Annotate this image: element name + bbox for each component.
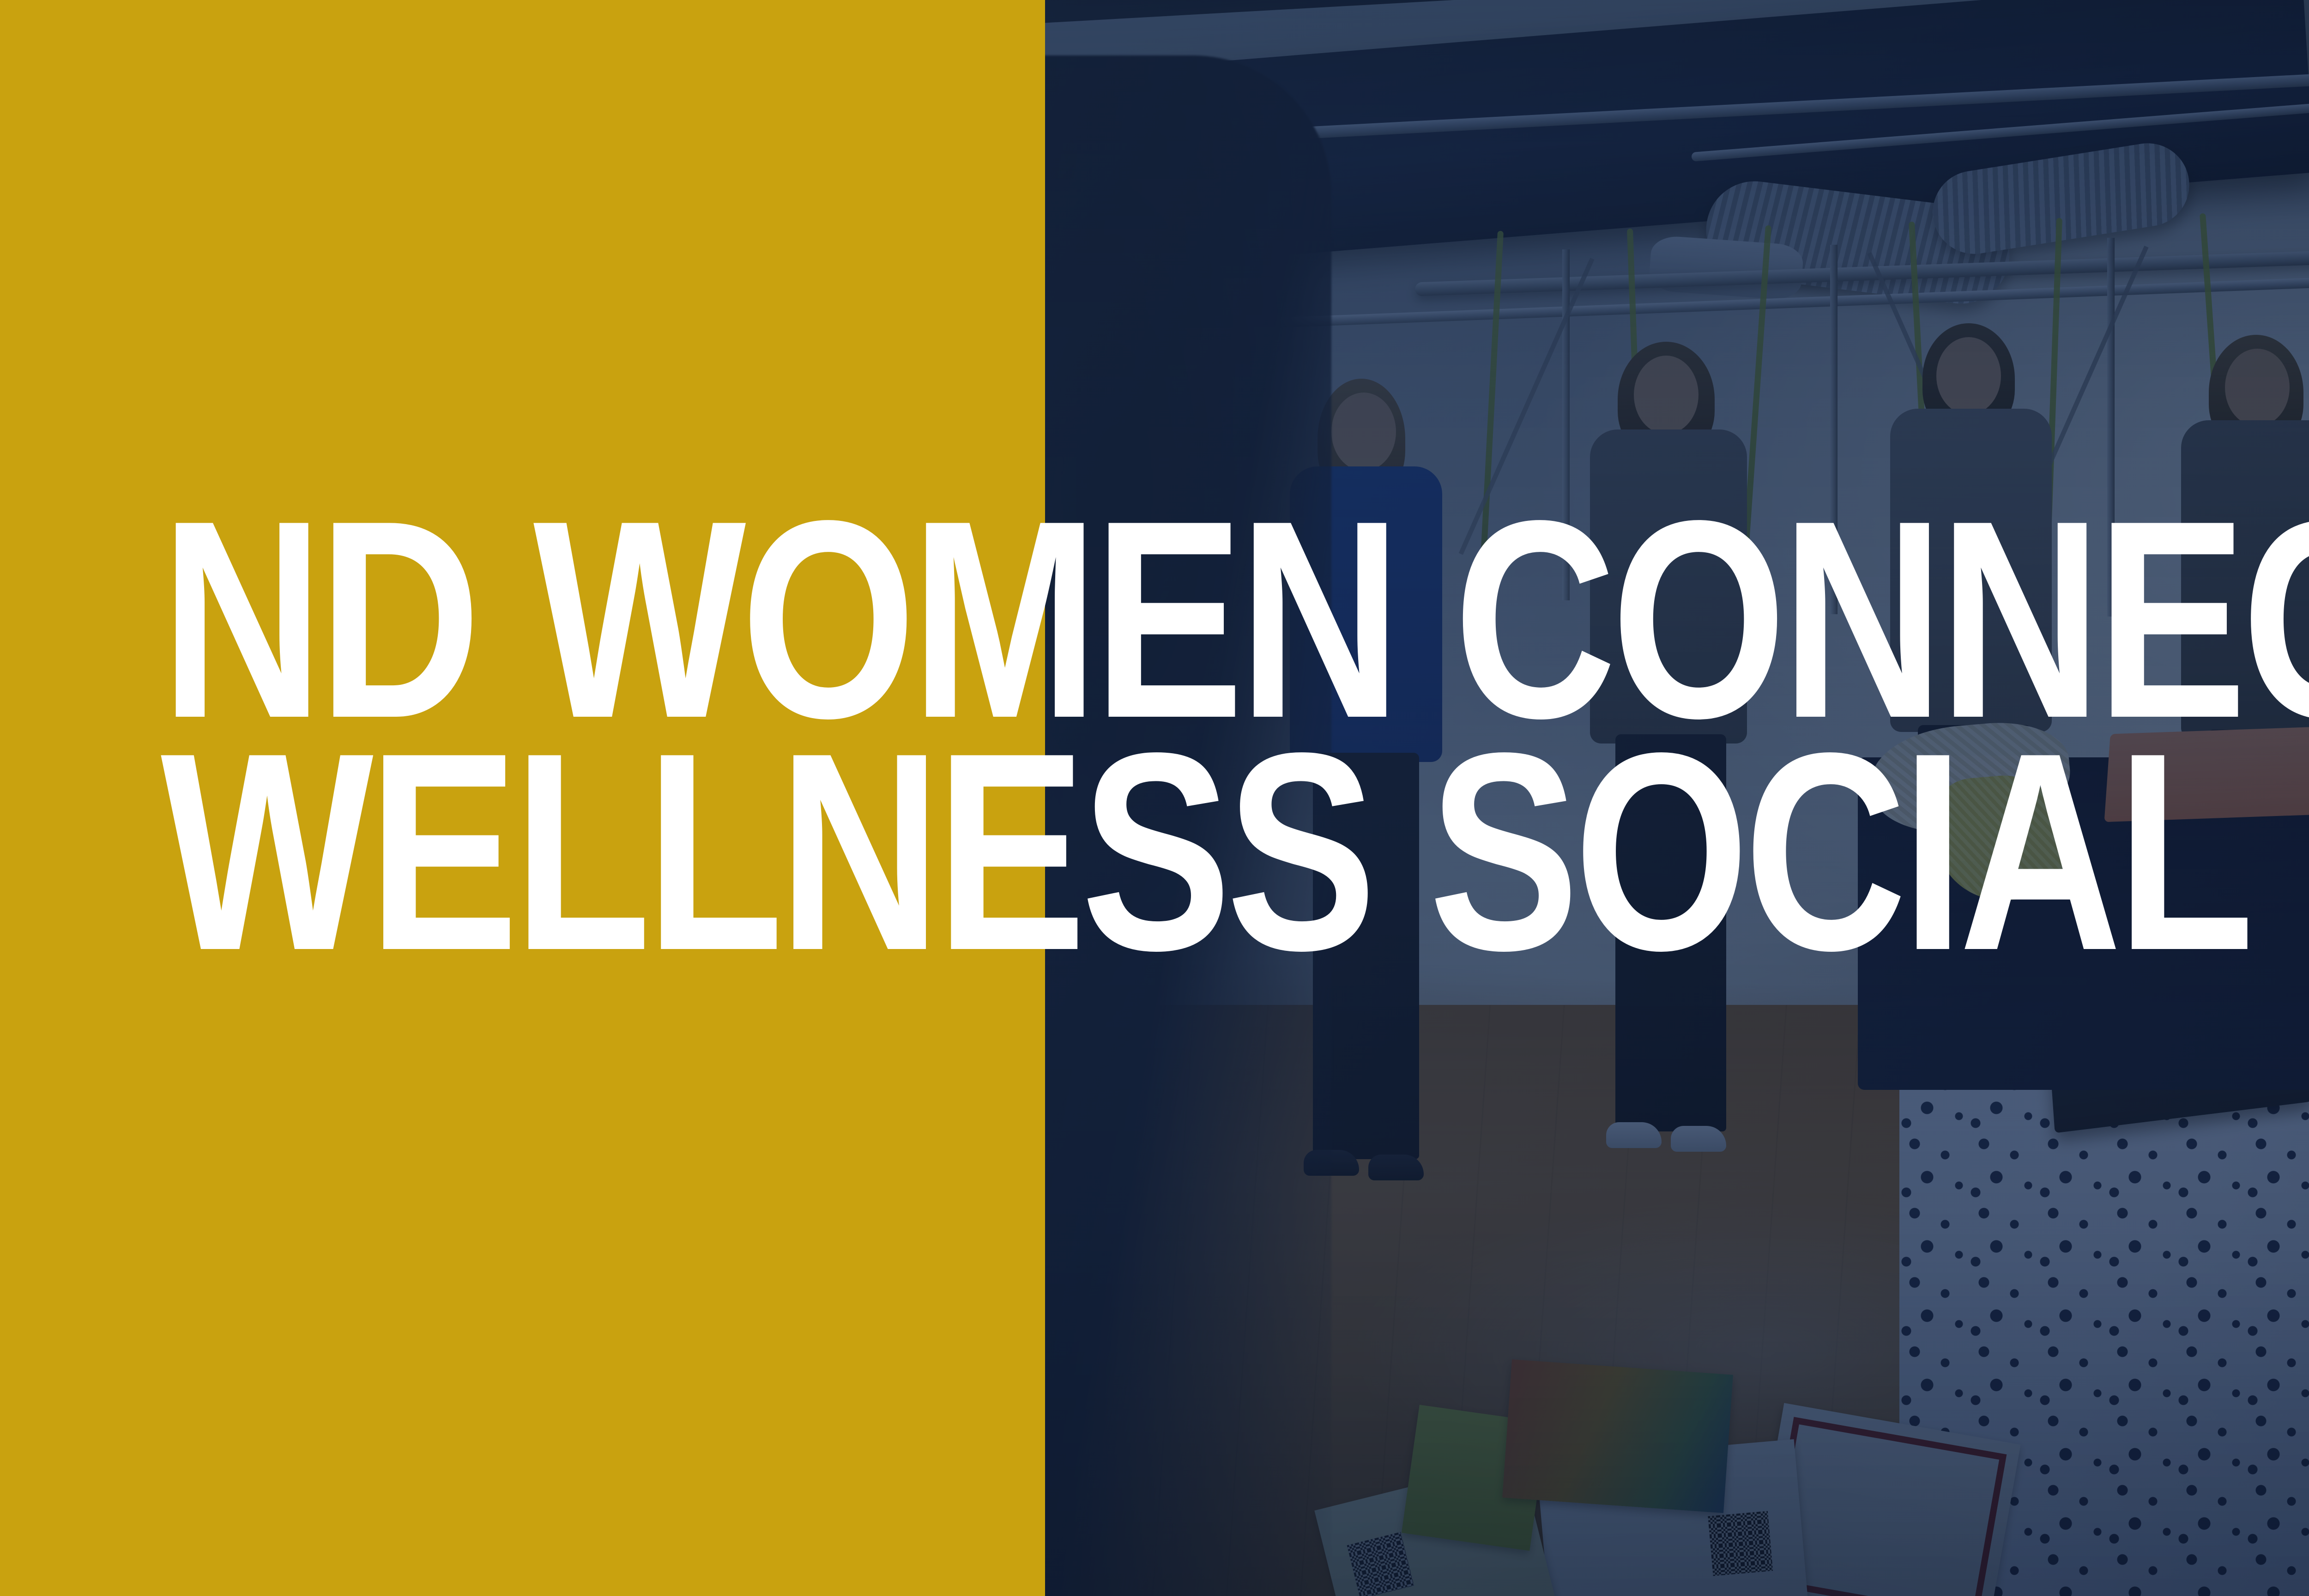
event-banner: ND WOMEN CONNECT WELLNESS SOCIAL [0, 0, 2309, 1596]
event-title-line-2: WELLNESS SOCIAL [161, 736, 2309, 968]
event-title: ND WOMEN CONNECT WELLNESS SOCIAL [161, 503, 2309, 968]
